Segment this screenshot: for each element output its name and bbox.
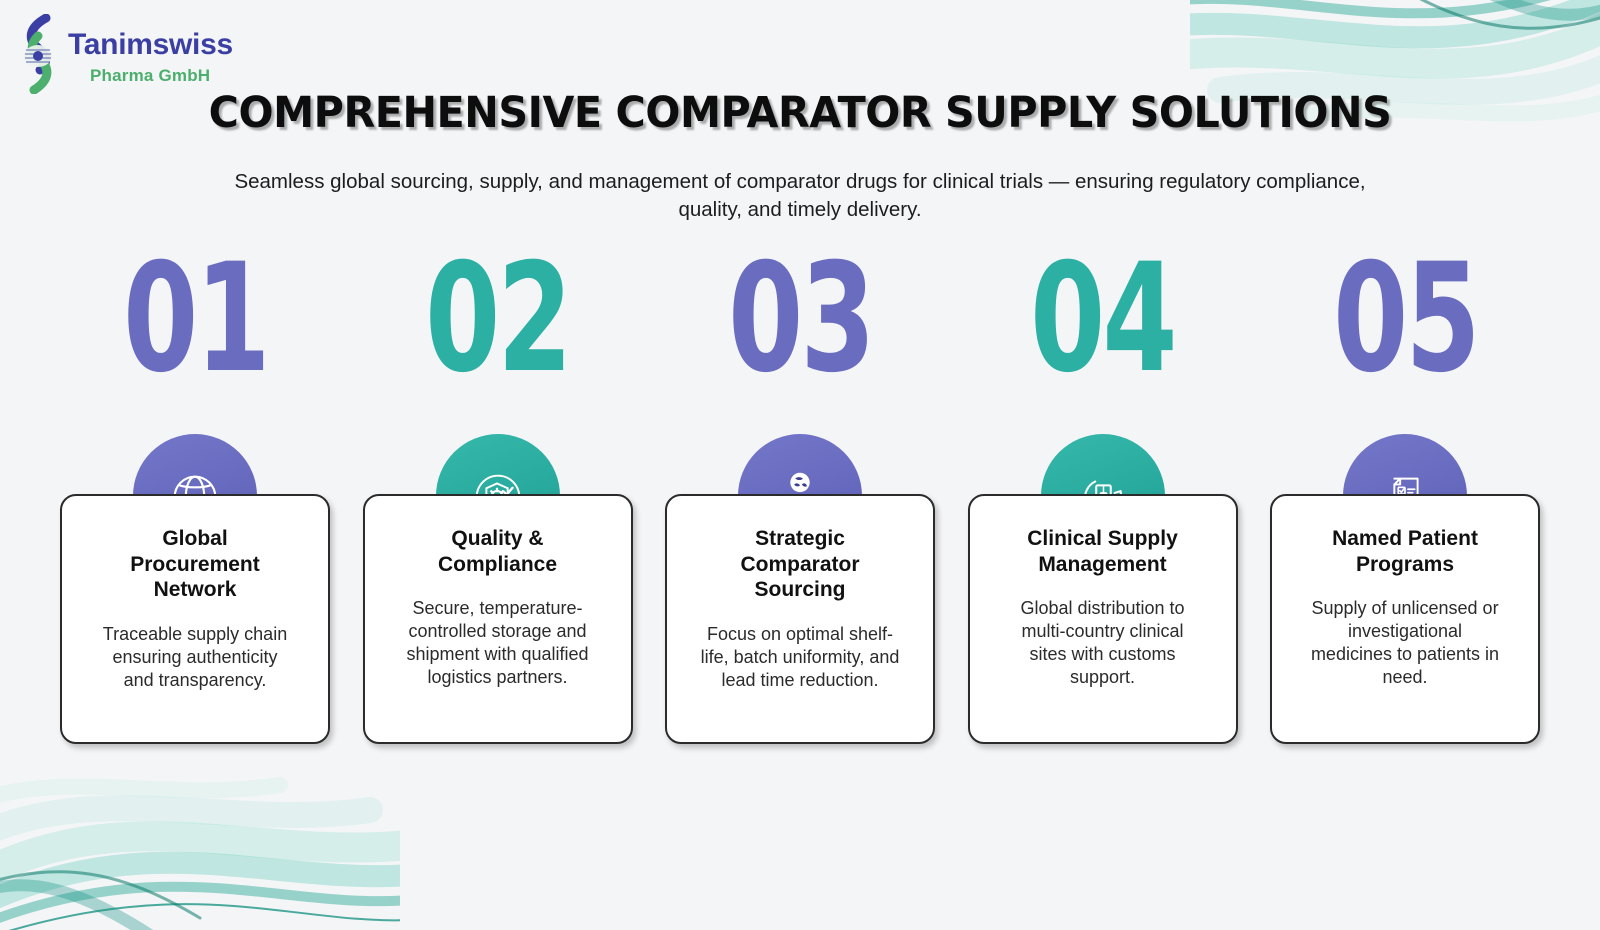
wave-decoration-bottom-left [0,740,400,930]
step-column-3: 03 Strategic Comparator Sourcing Focus o… [665,250,935,744]
step-column-1: 01 Global Procurement Network Traceable … [60,250,330,744]
step-title-3: Strategic Comparator Sourcing [705,526,895,603]
page-subtitle: Seamless global sourcing, supply, and ma… [230,168,1370,223]
step-card-3: Strategic Comparator Sourcing Focus on o… [665,494,935,744]
step-description-1: Traceable supply chain ensuring authenti… [95,623,295,692]
step-description-5: Supply of unlicensed or investigational … [1305,597,1505,689]
step-title-1: Global Procurement Network [100,526,290,603]
step-description-2: Secure, temperature-controlled storage a… [398,597,598,689]
brand-logo: Tanimswiss Pharma GmbH [16,14,233,94]
step-card-2: Quality & Compliance Secure, temperature… [363,494,633,744]
page-title: COMPREHENSIVE COMPARATOR SUPPLY SOLUTION… [32,88,1568,138]
step-number-3: 03 [728,250,873,386]
step-column-5: 05 [1270,250,1540,744]
step-number-5: 05 [1333,250,1478,386]
step-card-4: Clinical Supply Management Global distri… [968,494,1238,744]
step-card-5: Named Patient Programs Supply of unlicen… [1270,494,1540,744]
step-card-1: Global Procurement Network Traceable sup… [60,494,330,744]
step-title-4: Clinical Supply Management [1008,526,1198,577]
step-title-2: Quality & Compliance [403,526,593,577]
step-column-4: 04 C [968,250,1238,744]
header: COMPREHENSIVE COMPARATOR SUPPLY SOLUTION… [0,88,1600,223]
step-number-1: 01 [123,250,268,386]
brand-name: Tanimswiss [68,30,233,60]
step-number-2: 02 [425,250,570,386]
step-number-4: 04 [1030,250,1175,386]
brand-logo-text: Tanimswiss Pharma GmbH [68,24,233,84]
step-description-3: Focus on optimal shelf-life, batch unifo… [700,623,900,692]
dna-helix-logo-icon [16,14,64,94]
brand-tagline: Pharma GmbH [90,67,233,84]
steps-row: 01 Global Procurement Network Traceable … [60,250,1540,744]
step-description-4: Global distribution to multi-country cli… [1003,597,1203,689]
step-title-5: Named Patient Programs [1310,526,1500,577]
step-column-2: 02 Quality & Compliance Secure, temperat… [363,250,633,744]
